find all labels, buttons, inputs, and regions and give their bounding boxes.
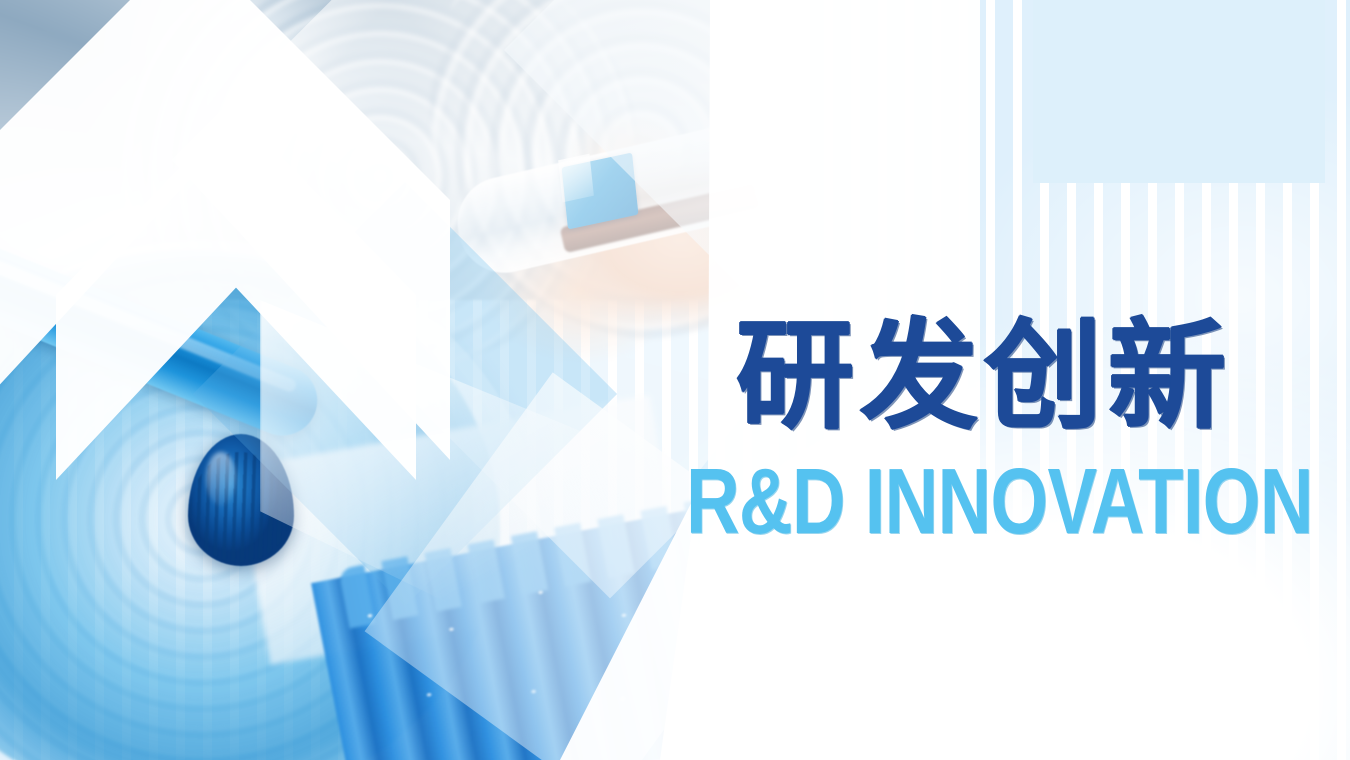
- headline-english: R&D INNOVATION: [686, 455, 1217, 548]
- rnd-innovation-banner: 恒瑞 研发创新 R&D INNOVATION: [0, 0, 1350, 760]
- headline-chinese: 研发创新: [736, 315, 1346, 439]
- test-tube-label-highlight: [558, 154, 594, 203]
- logo-panel: 恒瑞: [1033, 0, 1325, 183]
- droplet-highlight: [206, 452, 236, 506]
